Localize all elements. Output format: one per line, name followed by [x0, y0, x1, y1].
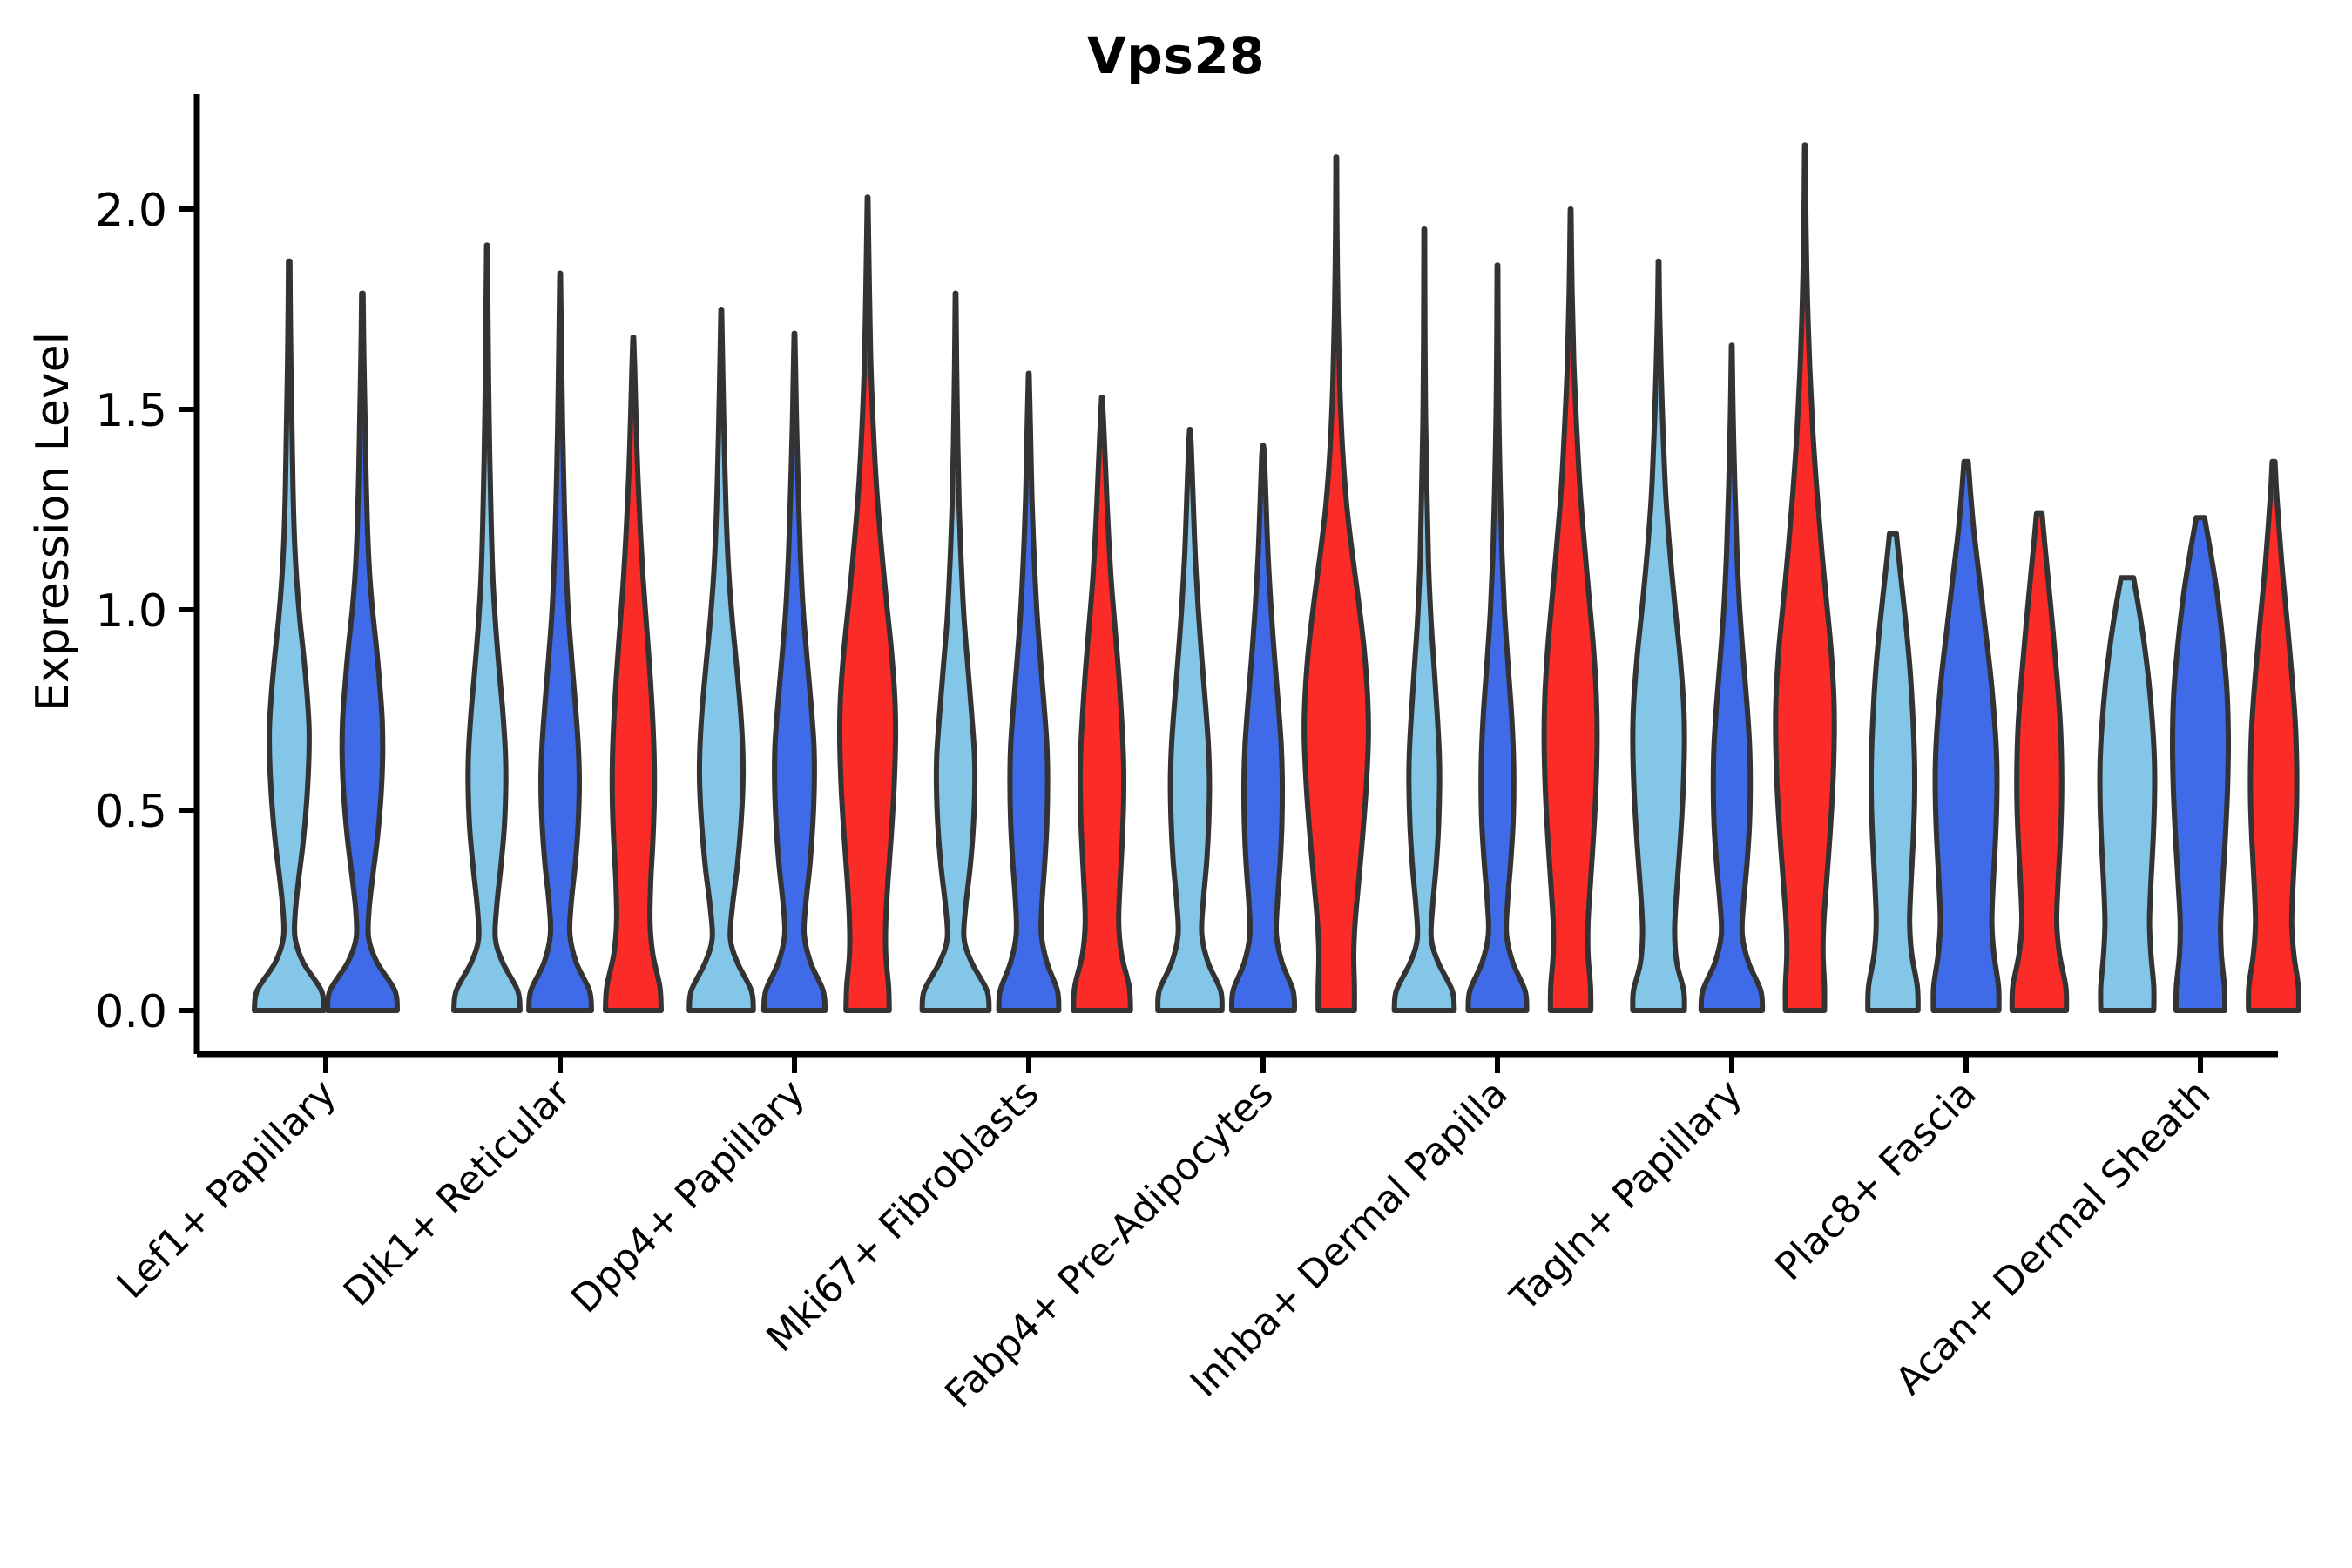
- violin-1-group-1: [254, 261, 324, 1010]
- violin-6-group-1: [1395, 229, 1455, 1010]
- violin-1-group-2: [328, 294, 397, 1010]
- y-tick-label-2: 1.0: [95, 585, 167, 638]
- chart-canvas: 0.00.51.01.52.0 Lef1+ PapillaryDlk1+ Ret…: [0, 0, 2352, 1568]
- violin-7-group-3: [1775, 145, 1834, 1010]
- violin-4-group-3: [1073, 397, 1131, 1010]
- y-axis-label: Expression Level: [27, 332, 79, 712]
- violin-4-group-1: [923, 294, 990, 1010]
- x-category-label-1: Dlk1+ Reticular: [335, 1071, 580, 1315]
- x-category-label-2: Dpp4+ Papillary: [563, 1071, 814, 1322]
- violin-3-group-2: [764, 334, 825, 1010]
- y-tick-label-0: 0.0: [95, 986, 167, 1038]
- violin-8-group-2: [1933, 462, 1998, 1010]
- violin-2-group-2: [529, 274, 591, 1010]
- x-category-label-6: Tagln+ Papillary: [1502, 1071, 1751, 1321]
- violin-plot-figure: Vps28 0.00.51.01.52.0 Lef1+ PapillaryDlk…: [0, 0, 2352, 1568]
- violin-9-group-2: [2173, 517, 2228, 1010]
- violin-6-group-3: [1544, 209, 1598, 1010]
- violin-4-group-2: [999, 374, 1059, 1010]
- violin-3-group-1: [689, 309, 754, 1010]
- y-tick-label-3: 1.5: [95, 385, 167, 437]
- violin-5-group-2: [1232, 445, 1294, 1010]
- y-tick-label-1: 0.5: [95, 786, 167, 838]
- violin-3-group-3: [840, 197, 896, 1010]
- violin-9-group-1: [2100, 578, 2155, 1010]
- x-category-label-7: Plac8+ Fascia: [1767, 1071, 1985, 1290]
- x-category-label-0: Lef1+ Papillary: [109, 1071, 345, 1308]
- violin-6-group-2: [1468, 265, 1526, 1010]
- violin-5-group-1: [1158, 429, 1222, 1010]
- violin-2-group-3: [605, 337, 661, 1010]
- violin-7-group-1: [1632, 261, 1684, 1010]
- violins-layer: [254, 145, 2299, 1010]
- violin-2-group-1: [454, 245, 520, 1010]
- violin-7-group-2: [1701, 345, 1762, 1010]
- violin-8-group-1: [1868, 534, 1918, 1010]
- violin-9-group-3: [2248, 462, 2299, 1010]
- violin-5-group-3: [1304, 157, 1369, 1010]
- y-tick-labels: 0.00.51.01.52.0: [95, 185, 167, 1038]
- y-axis-label-text: Expression Level: [27, 332, 79, 712]
- violin-8-group-3: [2012, 514, 2067, 1010]
- x-category-labels: Lef1+ PapillaryDlk1+ ReticularDpp4+ Papi…: [109, 1071, 2220, 1416]
- y-tick-label-4: 2.0: [95, 185, 167, 237]
